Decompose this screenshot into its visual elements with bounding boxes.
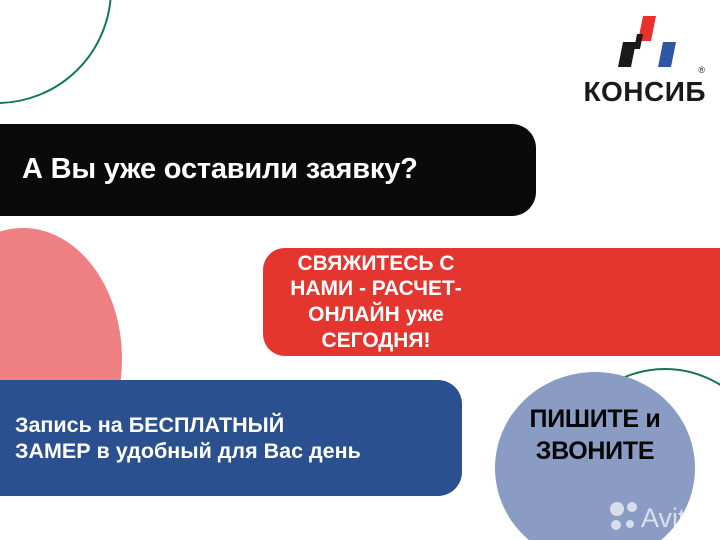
registered-trademark-icon: ®: [698, 66, 705, 75]
banner-question-text: А Вы уже оставили заявку?: [22, 152, 418, 187]
avito-watermark-icon: Avito: [608, 500, 712, 534]
banner-free-measure-line1: Запись на БЕСПЛАТНЫЙ: [15, 412, 361, 438]
banner-contact[interactable]: СВЯЖИТЕСЬ С НАМИ - РАСЧЕТ- ОНЛАЙН уже СЕ…: [263, 248, 720, 356]
banner-question[interactable]: А Вы уже оставили заявку?: [0, 124, 536, 216]
banner-free-measure-line2: ЗАМЕР в удобный для Вас день: [15, 438, 361, 464]
promo-poster: КОНСИБ ® А Вы уже оставили заявку? СВЯЖИ…: [0, 0, 720, 540]
banner-free-measure-text: Запись на БЕСПЛАТНЫЙ ЗАМЕР в удобный для…: [15, 412, 361, 464]
brand-logo: КОНСИБ ®: [568, 16, 706, 108]
banner-free-measure[interactable]: Запись на БЕСПЛАТНЫЙ ЗАМЕР в удобный для…: [0, 380, 462, 496]
avito-watermark-label: Avito: [641, 503, 701, 533]
callout-line2: ЗВОНИТЕ: [495, 435, 695, 467]
banner-contact-text: СВЯЖИТЕСЬ С НАМИ - РАСЧЕТ- ОНЛАЙН уже СЕ…: [286, 251, 466, 353]
banner-contact-line2-uzhe: уже: [406, 303, 444, 326]
banner-contact-line2-today: СЕГОДНЯ!: [321, 329, 430, 352]
brand-wordmark: КОНСИБ: [568, 78, 706, 106]
konsib-logo-mark-icon: [616, 16, 678, 68]
callout-line1: ПИШИТЕ и: [495, 403, 695, 435]
callout-text: ПИШИТЕ и ЗВОНИТЕ: [495, 403, 695, 467]
decorative-ring-top-left-icon: [0, 0, 112, 104]
banner-contact-line1: СВЯЖИТЕСЬ С НАМИ - РАСЧЕТ-: [290, 252, 462, 301]
banner-contact-line2-online: ОНЛАЙН: [308, 303, 406, 326]
